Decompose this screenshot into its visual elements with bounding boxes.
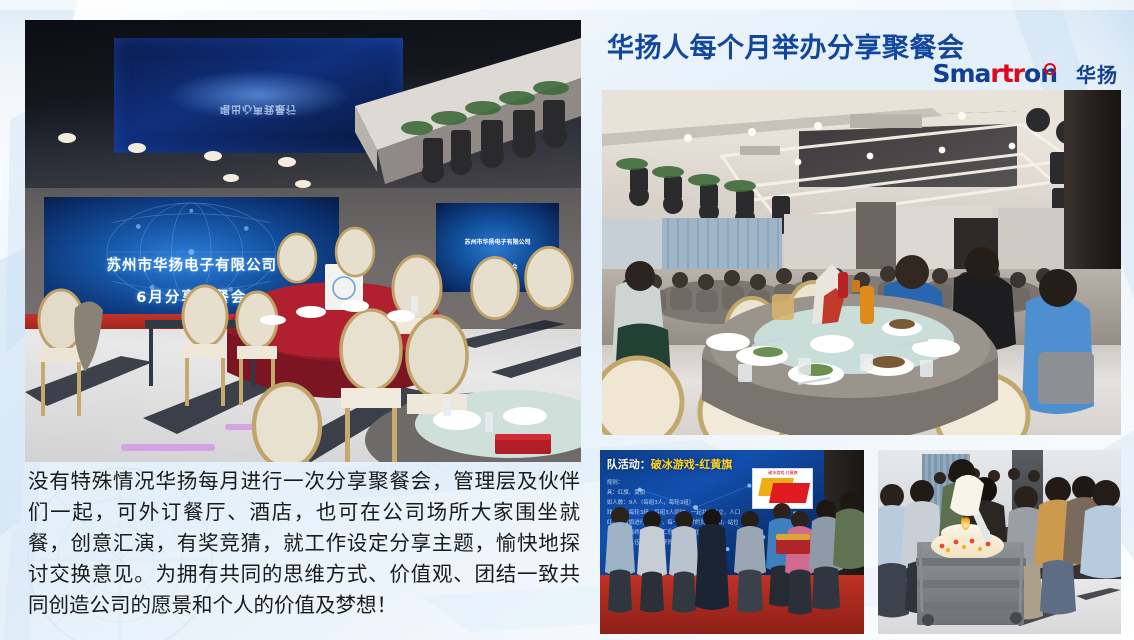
photo-icebreaker-game: 队活动：破冰游戏-红黄旗 规则： 具：红旗、黄旗 如人数：9人（每组3人，每轮3… (600, 450, 864, 634)
photo-icebreaker-game-content: 队活动：破冰游戏-红黄旗 规则： 具：红旗、黄旗 如人数：9人（每组3人，每轮3… (600, 450, 864, 634)
photo-banquet-hall-content: 唱出心声我最行 (25, 20, 581, 462)
photo-dining-crowd (602, 90, 1121, 435)
logo-wordmark: Smartron (932, 61, 1069, 86)
smartron-logo: Smartron 华扬 (932, 59, 1118, 88)
photo-banquet-hall: 唱出心声我最行 (25, 20, 581, 462)
slide-root: 华扬人每个月举办分享聚餐会 Smartron 华扬 唱出心声我最行 (0, 0, 1134, 640)
photo-cake-ceremony (878, 450, 1121, 634)
photo-cake-ceremony-content (878, 450, 1121, 634)
slide-caption: 没有特殊情况华扬每月进行一次分享聚餐会，管理层及伙伴们一起，可外订餐厅、酒店，也… (28, 466, 580, 621)
logo-ring-icon (1044, 63, 1056, 75)
photo-dining-crowd-content (602, 90, 1121, 435)
logo-segment-sma: Sma (932, 59, 990, 88)
page-title: 华扬人每个月举办分享聚餐会 (607, 26, 965, 65)
logo-chinese-name: 华扬 (1076, 59, 1118, 88)
logo-segment-rtr: rtr (990, 59, 1024, 88)
